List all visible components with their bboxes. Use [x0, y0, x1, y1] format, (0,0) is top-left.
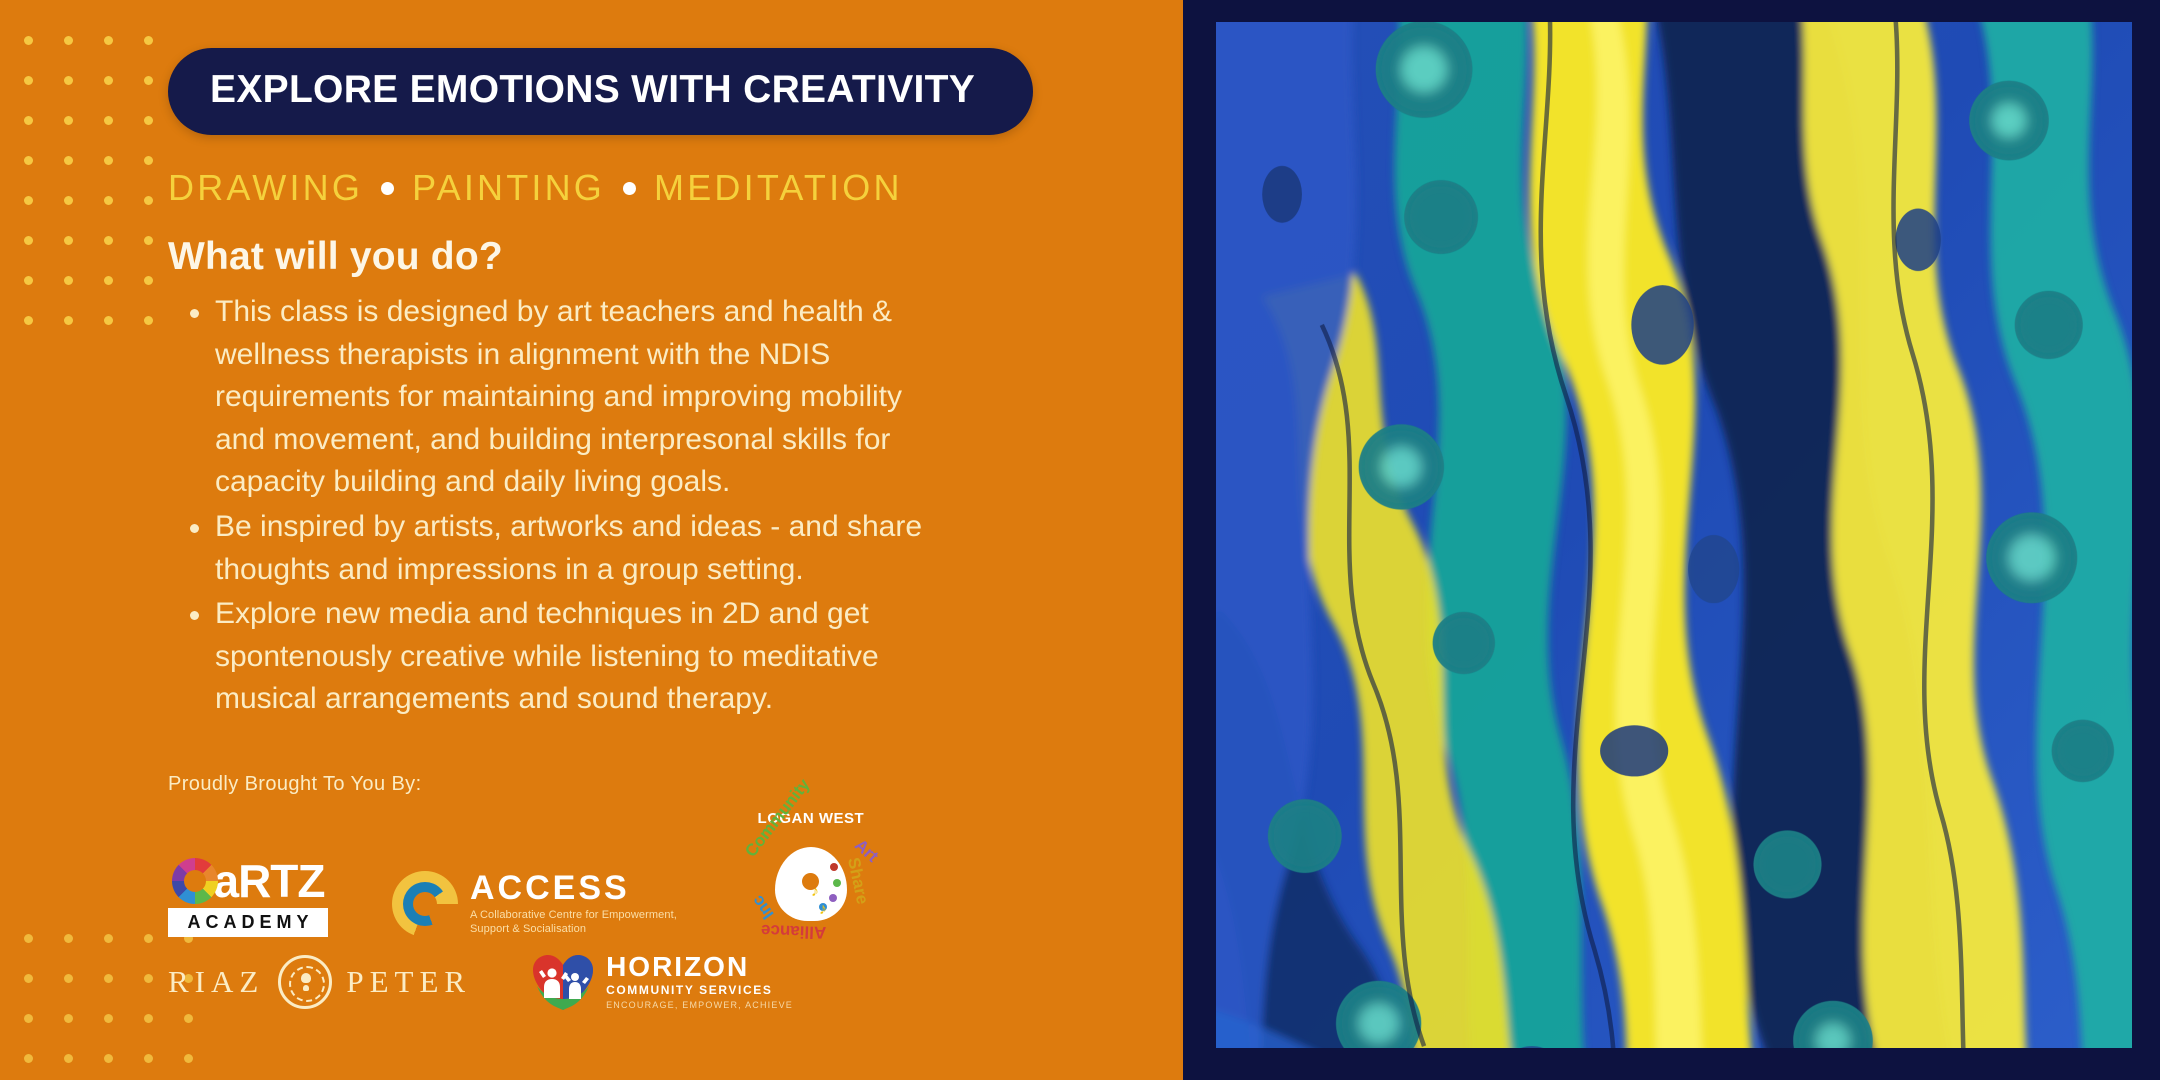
access-logo: ACCESS A Collaborative Centre for Empowe…: [392, 871, 677, 937]
content-column: EXPLORE EMOTIONS WITH CREATIVITY DRAWING…: [0, 0, 1183, 1011]
access-tagline: A Collaborative Centre for Empowerment, …: [470, 909, 677, 937]
activity-meditation: MEDITATION: [654, 167, 903, 209]
horizon-text-block: HORIZON COMMUNITY SERVICES ENCOURAGE, EM…: [606, 953, 793, 1010]
sponsors-label: Proudly Brought To You By:: [168, 773, 1183, 796]
access-swirl-icon: [392, 871, 458, 937]
fluid-art-image: [1216, 22, 2132, 1048]
list-item: Explore new media and techniques in 2D a…: [168, 593, 928, 721]
palette-dot-icon: [833, 879, 841, 887]
music-note-icon: ♪: [819, 901, 827, 919]
access-tagline-line2: Support & Socialisation: [470, 923, 677, 937]
artz-academy-logo: aRTZ ACADEMY: [168, 858, 328, 937]
music-note-icon: ♪: [811, 883, 819, 901]
list-item: Be inspired by artists, artworks and ide…: [168, 506, 928, 591]
promo-banner: EXPLORE EMOTIONS WITH CREATIVITY DRAWING…: [0, 0, 2160, 1080]
separator-dot-icon: [623, 182, 636, 195]
paint-palette-icon: ♪ ♪: [775, 847, 847, 921]
palette-dot-icon: [829, 894, 837, 902]
left-info-panel: EXPLORE EMOTIONS WITH CREATIVITY DRAWING…: [0, 0, 1183, 1080]
riaz-peter-logo: RIAZ PETER: [168, 955, 471, 1009]
sponsor-logo-row-1: aRTZ ACADEMY ACCESS A Collaborative Cent…: [168, 810, 1183, 937]
access-tagline-line1: A Collaborative Centre for Empowerment,: [470, 909, 677, 923]
page-title: EXPLORE EMOTIONS WITH CREATIVITY: [168, 48, 1033, 135]
artz-academy-label: ACADEMY: [168, 908, 328, 937]
artz-wordmark: aRTZ: [214, 858, 325, 904]
access-wordmark: ACCESS: [470, 871, 677, 905]
ring-word-inc: Inc: [748, 891, 778, 923]
separator-dot-icon: [381, 182, 394, 195]
sponsor-logo-row-2: RIAZ PETER: [168, 953, 1183, 1011]
color-wheel-icon: [172, 858, 218, 904]
question-heading: What will you do?: [168, 235, 1183, 279]
artwork-panel: We ndis: [1183, 0, 2160, 1080]
sponsors-section: Proudly Brought To You By: aRTZ ACADEMY: [168, 773, 1183, 1011]
heart-people-icon: [531, 953, 595, 1011]
logan-west-emblem: Community Art Share Alliance Inc ♪: [745, 829, 877, 937]
palette-dot-icon: [830, 863, 838, 871]
ring-word-alliance: Alliance: [761, 920, 827, 942]
logan-west-logo: LOGAN WEST Community Art Share Alliance …: [741, 810, 881, 937]
activity-subtitle: DRAWING PAINTING MEDITATION: [168, 167, 1183, 209]
peter-wordmark: PETER: [346, 964, 471, 1000]
artz-wordmark-row: aRTZ: [168, 858, 328, 904]
horizon-tagline: ENCOURAGE, EMPOWER, ACHIEVE: [606, 1000, 793, 1010]
activity-drawing: DRAWING: [168, 167, 363, 209]
horizon-subtitle: COMMUNITY SERVICES: [606, 983, 793, 997]
horizon-community-services-logo: HORIZON COMMUNITY SERVICES ENCOURAGE, EM…: [531, 953, 793, 1011]
riaz-wordmark: RIAZ: [168, 964, 264, 1000]
access-text-block: ACCESS A Collaborative Centre for Empowe…: [470, 871, 677, 937]
activity-bullet-list: This class is designed by art teachers a…: [168, 291, 928, 721]
activity-painting: PAINTING: [412, 167, 605, 209]
list-item: This class is designed by art teachers a…: [168, 291, 928, 504]
horizon-wordmark: HORIZON: [606, 953, 793, 981]
maze-keyhole-icon: [278, 955, 332, 1009]
